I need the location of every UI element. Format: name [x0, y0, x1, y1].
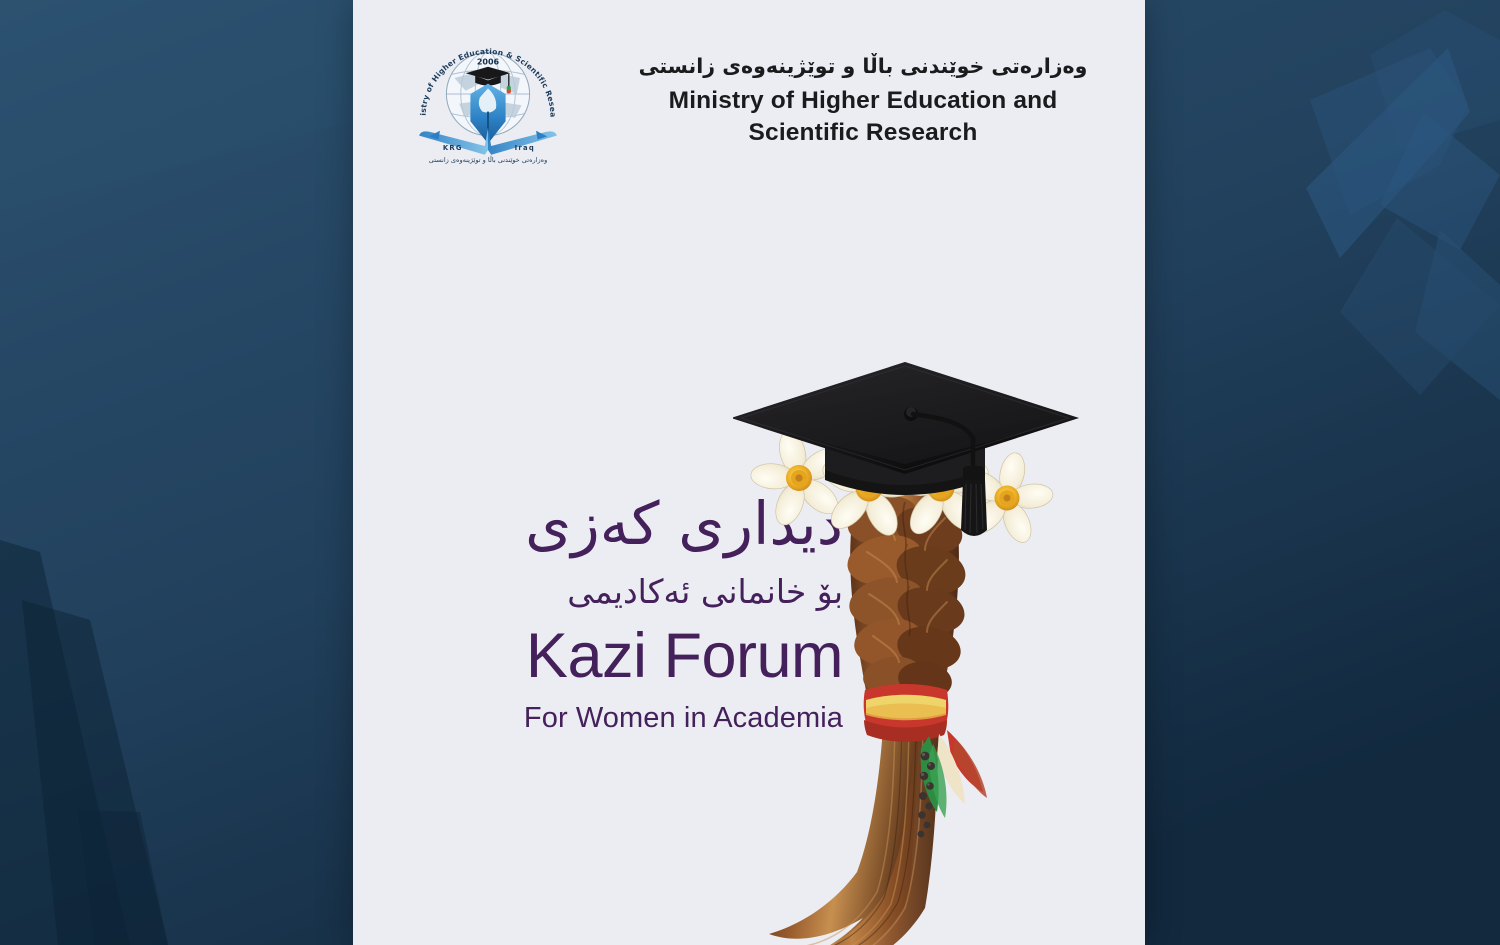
graduation-cap-braid-illustration [733, 352, 1145, 945]
cap-tassel [961, 466, 987, 536]
ministry-name-english-line2: Scientific Research [598, 117, 1128, 149]
emblem-kurdish-label: وەزارەتی خوێندنی باڵا و توێژینەوەی زانست… [429, 155, 548, 164]
emblem-year: 2006 [477, 57, 500, 66]
graduate-illustration-svg [733, 352, 1145, 945]
ministry-emblem-logo: Ministry of Higher Education & Scientifi… [408, 38, 568, 166]
ministry-name-block: وەزارەتی خوێندنی باڵا و توێژینەوەی زانست… [598, 52, 1128, 149]
poster-panel: Ministry of Higher Education & Scientifi… [353, 0, 1145, 945]
ministry-name-english-line1: Ministry of Higher Education and [598, 85, 1128, 117]
emblem-iraq-label: Iraq [515, 144, 535, 152]
emblem-krg-label: KRG [443, 144, 463, 152]
ministry-emblem-icon: Ministry of Higher Education & Scientifi… [408, 38, 568, 166]
poster-header: Ministry of Higher Education & Scientifi… [353, 0, 1145, 200]
ministry-name-kurdish: وەزارەتی خوێندنی باڵا و توێژینەوەی زانست… [598, 52, 1128, 81]
open-book-swoosh-icon [419, 128, 557, 155]
